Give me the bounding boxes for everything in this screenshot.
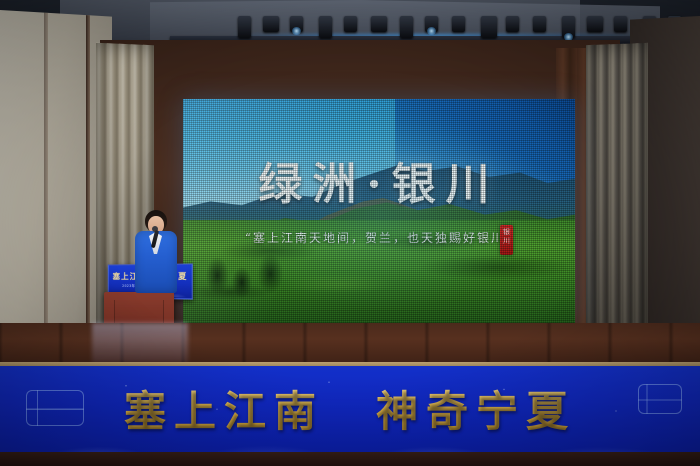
led-title: 绿洲·银川 bbox=[183, 163, 575, 207]
stage-light-fixture bbox=[263, 16, 279, 32]
speaker-person bbox=[133, 210, 179, 296]
stage-apron bbox=[0, 323, 700, 369]
stage-light-fixture bbox=[481, 16, 497, 38]
stage-light-fixture bbox=[371, 16, 387, 32]
banner-text-row: 塞上江南 神奇宁夏 bbox=[0, 378, 700, 439]
red-seal-stamp: 银川 bbox=[500, 225, 513, 255]
banner-phrase-left: 塞上江南 bbox=[124, 378, 324, 439]
stage-light-fixture bbox=[506, 16, 519, 32]
led-subtitle: “塞上江南天地间，贺兰，也天独赐好银川” bbox=[183, 229, 575, 246]
floor-strip bbox=[0, 452, 700, 466]
stage-light-fixture bbox=[425, 16, 438, 32]
stage-light-fixture bbox=[533, 16, 546, 32]
stage-light-fixture bbox=[319, 16, 332, 38]
stage-banner: 塞上江南 神奇宁夏 bbox=[0, 366, 700, 456]
stage-light-fixture bbox=[452, 16, 465, 32]
stage-light-fixture bbox=[400, 16, 413, 38]
stage-light-fixture bbox=[614, 16, 627, 32]
banner-phrase-right: 神奇宁夏 bbox=[376, 378, 576, 439]
led-background-image bbox=[183, 99, 575, 323]
stage-light-fixture bbox=[562, 16, 575, 38]
led-video-wall: 绿洲·银川 “塞上江南天地间，贺兰，也天独赐好银川” 银川 bbox=[183, 99, 575, 323]
stage-light-fixture bbox=[238, 16, 251, 38]
apron-light-spill bbox=[92, 323, 188, 363]
stage-scene: 绿洲·银川 “塞上江南天地间，贺兰，也天独赐好银川” 银川 塞上江南 神奇宁夏 … bbox=[0, 0, 700, 466]
stage-light-fixture bbox=[587, 16, 603, 32]
stage-light-fixture bbox=[344, 16, 357, 32]
stage-light-fixture bbox=[290, 16, 303, 32]
